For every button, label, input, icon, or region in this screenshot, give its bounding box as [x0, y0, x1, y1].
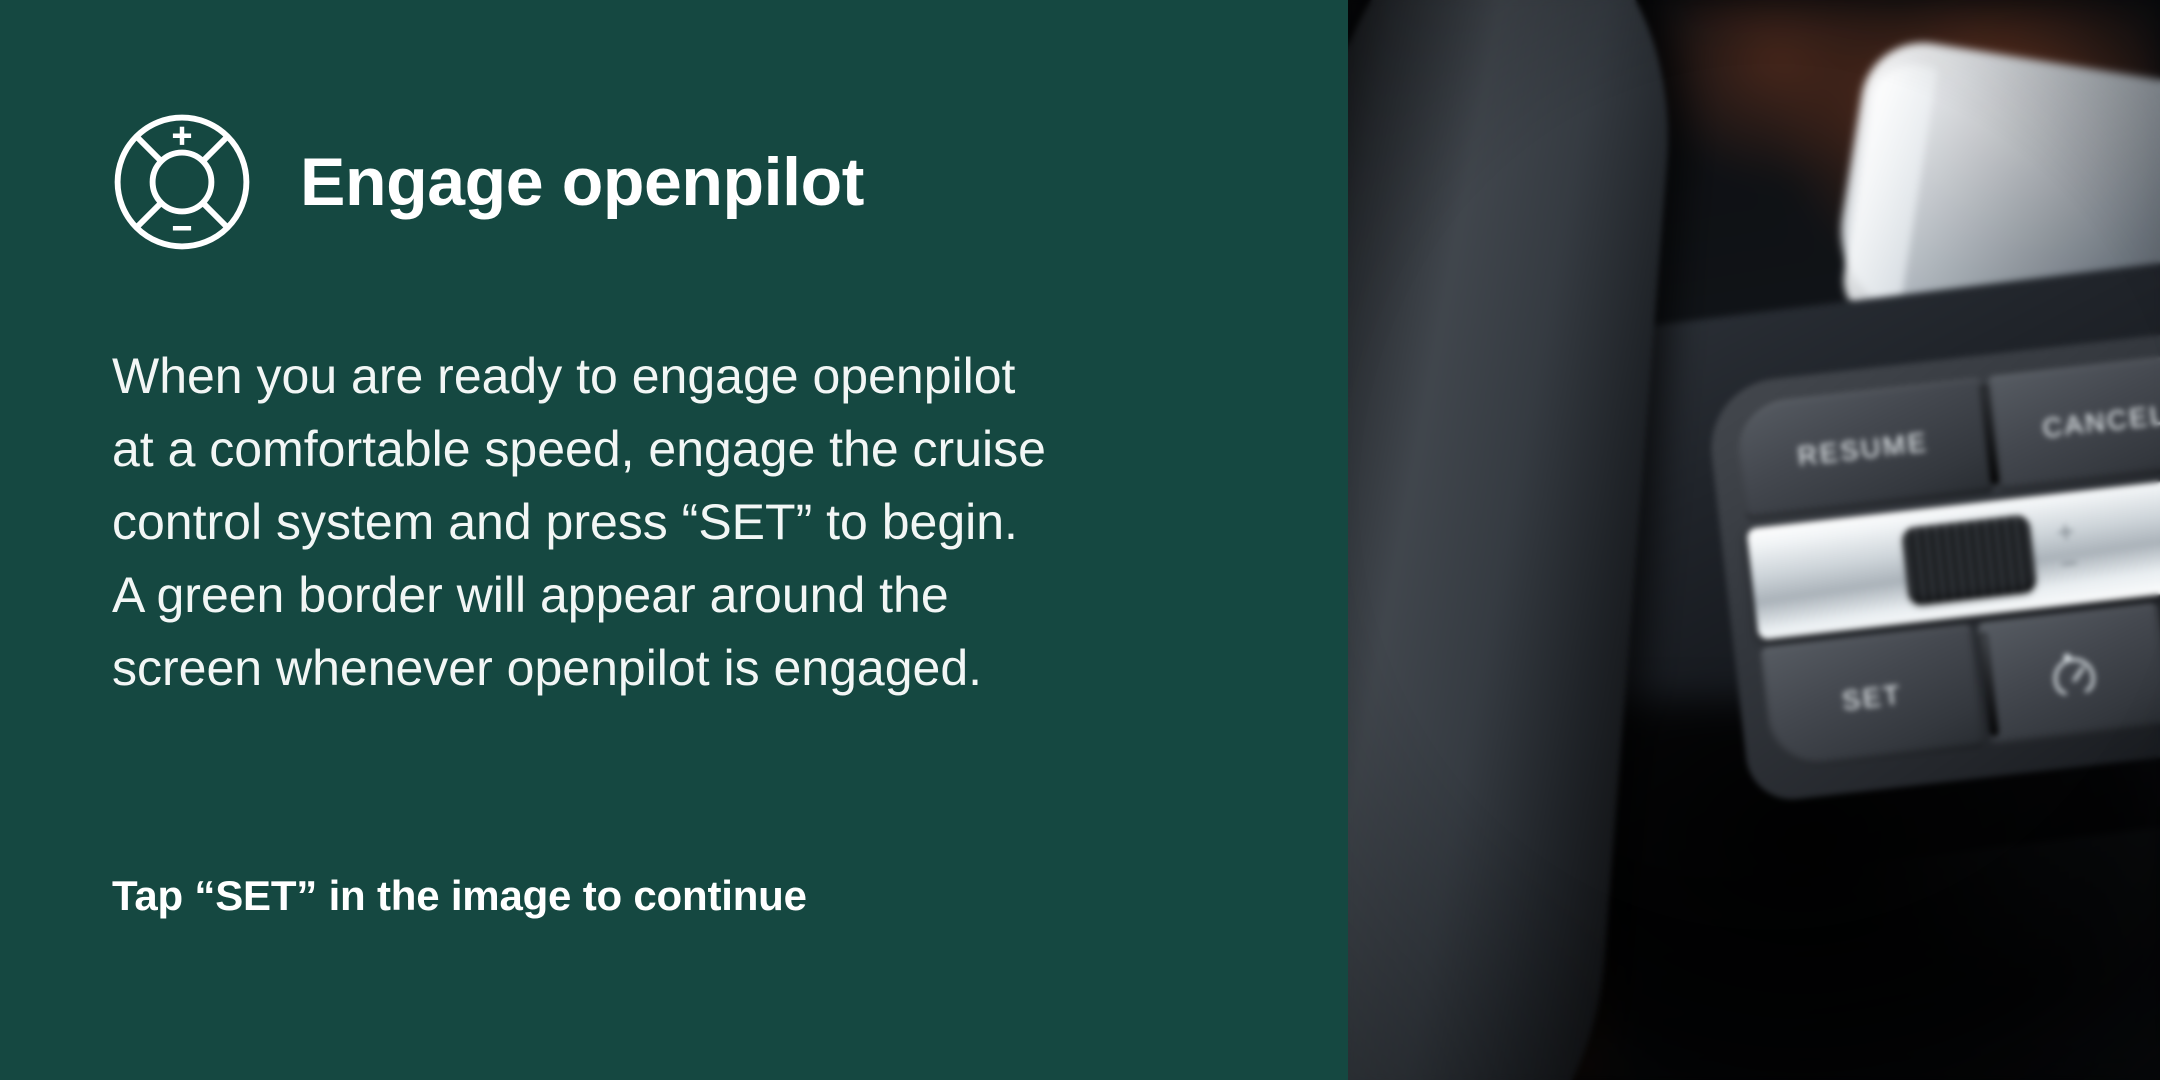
instruction-panel: Engage openpilot When you are ready to e… — [0, 0, 1348, 1080]
body-line: control system and press “SET” to begin. — [112, 486, 1292, 559]
body-line: When you are ready to engage openpilot — [112, 340, 1292, 413]
speed-limiter-icon — [2044, 645, 2104, 705]
onboarding-screen: Engage openpilot When you are ready to e… — [0, 0, 2160, 1080]
panel-header: Engage openpilot — [112, 112, 1348, 252]
thumbwheel-plus-label: + — [2055, 517, 2076, 549]
speed-limiter-button[interactable] — [1977, 603, 2160, 747]
thumbwheel-plus-minus: + − — [2055, 517, 2079, 581]
instruction-body: When you are ready to engage openpilot a… — [112, 340, 1292, 705]
body-line: screen whenever openpilot is engaged. — [112, 632, 1292, 705]
thumbwheel-minus-label: − — [2059, 549, 2080, 581]
resume-button-label: RESUME — [1796, 426, 1930, 472]
set-button-label: SET — [1840, 679, 1903, 717]
page-title: Engage openpilot — [300, 148, 864, 216]
set-button[interactable]: SET — [1760, 624, 1985, 771]
body-line: at a comfortable speed, engage the cruis… — [112, 413, 1292, 486]
cruise-control-button-cluster: RESUME CANCEL + − SET — [1704, 328, 2160, 804]
cancel-button-label: CANCEL — [2041, 399, 2160, 444]
body-line: A green border will appear around the — [112, 559, 1292, 632]
cta-instruction: Tap “SET” in the image to continue — [112, 872, 807, 920]
thumbwheel[interactable] — [1901, 514, 2037, 606]
steering-wheel-photo[interactable]: RESUME CANCEL + − SET — [1348, 0, 2160, 1080]
cruise-control-wheel-icon — [112, 112, 252, 252]
